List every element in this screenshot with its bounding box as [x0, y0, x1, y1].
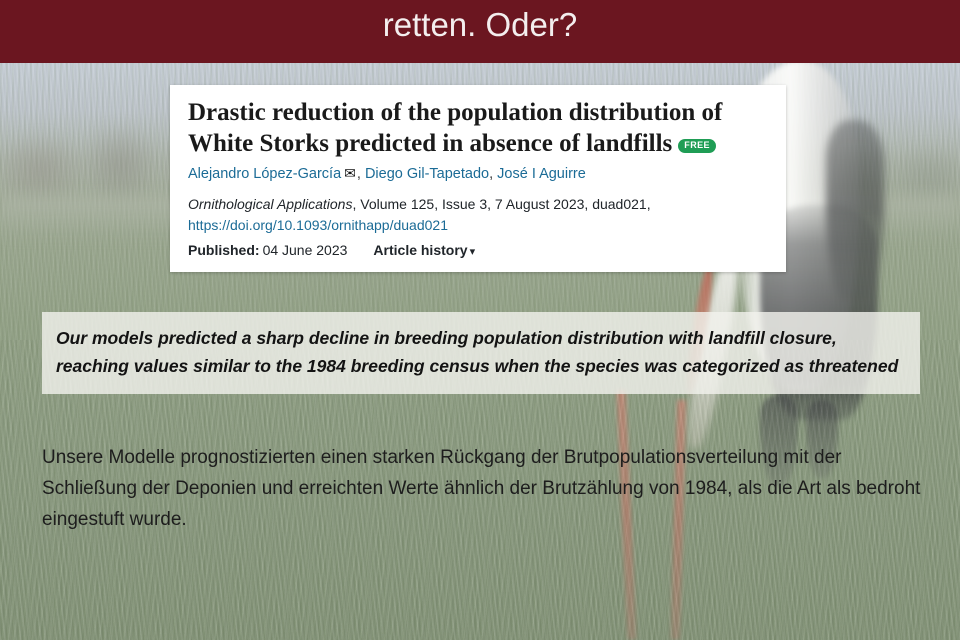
citation-details: , Volume 125, Issue 3, 7 August 2023, du… [352, 196, 650, 212]
free-access-badge: FREE [678, 139, 716, 153]
key-finding-quote: Our models predicted a sharp decline in … [42, 312, 920, 394]
slide-title-banner: Heutzutage braucht man doch keine Störch… [0, 0, 960, 63]
publication-row: Published:04 June 2023Article history▾ [188, 240, 768, 262]
author-link-3[interactable]: José I Aguirre [497, 166, 586, 182]
author-link-2[interactable]: Diego Gil-Tapetado [365, 166, 489, 182]
published-date: 04 June 2023 [263, 242, 348, 258]
article-title: Drastic reduction of the population dist… [188, 97, 768, 159]
envelope-icon[interactable]: ✉ [344, 163, 356, 183]
slide-title-text: Heutzutage braucht man doch keine Störch… [0, 0, 960, 46]
article-card: Drastic reduction of the population dist… [170, 85, 786, 272]
article-citation: Ornithological Applications, Volume 125,… [188, 194, 768, 236]
author-link-1[interactable]: Alejandro López-García [188, 166, 341, 182]
author-separator-2: , [489, 166, 497, 182]
german-translation: Unsere Modelle prognostizierten einen st… [42, 442, 922, 535]
article-title-text: Drastic reduction of the population dist… [188, 99, 722, 157]
slide: Heutzutage braucht man doch keine Störch… [0, 0, 960, 640]
journal-name: Ornithological Applications [188, 196, 352, 212]
chevron-down-icon[interactable]: ▾ [470, 246, 476, 258]
author-separator-1: , [357, 166, 365, 182]
article-history-button[interactable]: Article history [373, 242, 467, 258]
article-authors: Alejandro López-García✉, Diego Gil-Tapet… [188, 163, 768, 184]
published-label: Published: [188, 242, 260, 258]
doi-link[interactable]: https://doi.org/10.1093/ornithapp/duad02… [188, 217, 448, 233]
